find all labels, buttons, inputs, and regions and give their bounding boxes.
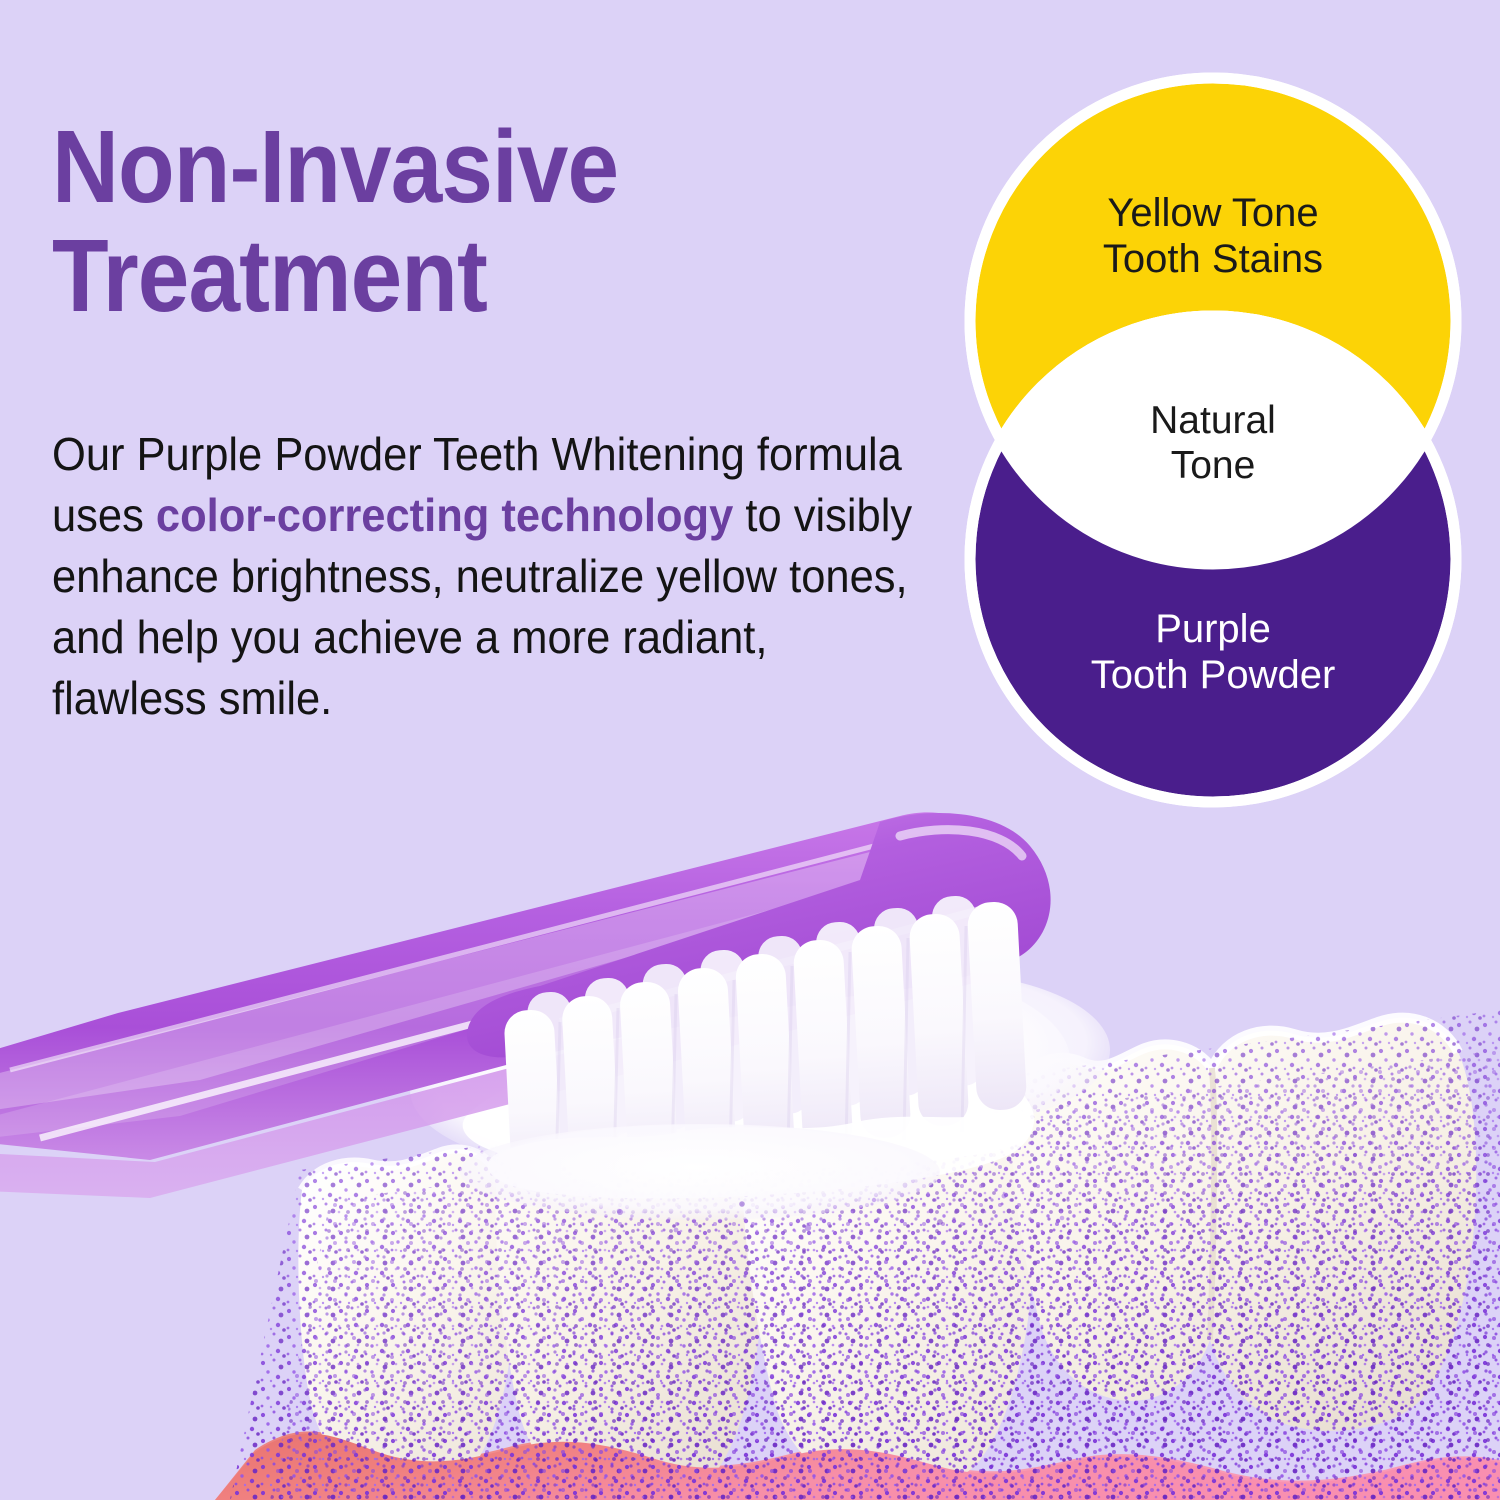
venn-diagram: Yellow Tone Tooth Stains Natural Tone Pu… xyxy=(958,66,1468,814)
body-paragraph: Our Purple Powder Teeth Whitening formul… xyxy=(52,424,922,729)
toothbrush xyxy=(0,812,1051,1220)
page-title: Non-Invasive Treatment xyxy=(52,112,826,330)
infographic-canvas: Non-Invasive Treatment Our Purple Powder… xyxy=(0,0,1500,1500)
body-text-emphasis: color-correcting technology xyxy=(156,489,733,541)
toothbrush-teeth-illustration xyxy=(0,760,1500,1500)
